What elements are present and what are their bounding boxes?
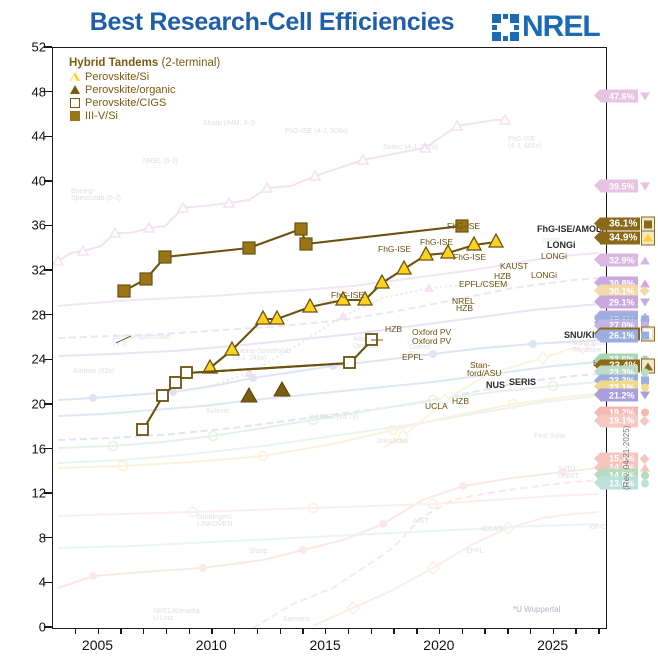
y-tick-label-20: 20 bbox=[6, 396, 46, 411]
highlight-series-layer: FhG-ISEFhG-ISEFhG-ISEFhG-ISEFhG-ISEFhG-I… bbox=[53, 48, 606, 628]
value-flag-32.9: 32.9% bbox=[600, 254, 651, 267]
x-tick-label-2025: 2025 bbox=[537, 637, 568, 653]
legend-title-bold: Hybrid Tandems bbox=[69, 57, 161, 69]
value-flag-label: 29.1% bbox=[600, 296, 638, 309]
y-tick-mark bbox=[44, 136, 52, 137]
plot-label: UCLA bbox=[425, 402, 448, 411]
y-tick-mark bbox=[44, 180, 52, 181]
value-flag-label: 26.1% bbox=[600, 329, 638, 342]
value-flag-symbol-icon bbox=[641, 230, 655, 245]
value-flag-label: 32.9% bbox=[600, 254, 638, 267]
legend-item-perovskite-organic[interactable]: Perovskite/organic bbox=[69, 83, 220, 96]
value-flag-symbol-icon bbox=[639, 180, 651, 193]
plot-label: FhG-ISE bbox=[378, 245, 411, 254]
chart-root: Best Research-Cell Efficiencies NREL Cel… bbox=[0, 0, 658, 660]
y-tick-label-12: 12 bbox=[6, 486, 46, 501]
legend-title: Hybrid Tandems (2-terminal) bbox=[69, 57, 220, 69]
plot-label: LONGi bbox=[547, 241, 576, 250]
x-tick-label-2010: 2010 bbox=[196, 637, 227, 653]
y-tick-mark bbox=[44, 537, 52, 538]
value-flag-label: 13.0% bbox=[600, 477, 638, 490]
value-flag-symbol-icon bbox=[639, 90, 651, 103]
plot-label: SERIS bbox=[509, 378, 536, 387]
value-flag-34.9: 34.9% bbox=[600, 231, 655, 244]
plot-label: Oxford PV bbox=[412, 337, 451, 346]
y-tick-mark bbox=[44, 91, 52, 92]
y-tick-label-0: 0 bbox=[6, 620, 46, 635]
y-tick-mark bbox=[44, 626, 52, 627]
value-flag-label: 21.2% bbox=[600, 389, 638, 402]
value-flag-21.2: 21.2% bbox=[600, 389, 651, 402]
y-tick-label-48: 48 bbox=[6, 84, 46, 99]
y-tick-label-36: 36 bbox=[6, 218, 46, 233]
value-flag-label: 34.9% bbox=[600, 231, 640, 244]
right-value-flags: 47.6%39.5%36.1%34.9%32.9%30.8%30.1%29.1%… bbox=[600, 47, 658, 627]
value-flag-label: 19.1% bbox=[600, 414, 638, 427]
y-tick-label-52: 52 bbox=[6, 40, 46, 55]
plot-label: FhG-ISE bbox=[331, 291, 364, 300]
value-flag-symbol-icon bbox=[639, 296, 651, 309]
triangle-filled-icon bbox=[69, 84, 80, 95]
value-flag-symbol-icon bbox=[639, 477, 651, 490]
y-tick-label-16: 16 bbox=[6, 441, 46, 456]
footnote-wuppertal: *U Wuppertal bbox=[513, 605, 560, 614]
value-flag-26.1: 26.1% bbox=[600, 329, 651, 342]
plot-label: HZB bbox=[385, 325, 402, 334]
y-tick-mark bbox=[44, 225, 52, 226]
highlight-series-svg bbox=[53, 48, 606, 628]
legend-label-2: Perovskite/CIGS bbox=[85, 97, 166, 109]
y-tick-label-40: 40 bbox=[6, 173, 46, 188]
y-tick-mark bbox=[44, 448, 52, 449]
value-flag-36.1: 36.1% bbox=[600, 218, 655, 231]
value-flag-label: 47.6% bbox=[600, 90, 638, 103]
value-flag-label: 36.1% bbox=[600, 218, 640, 231]
y-tick-label-8: 8 bbox=[6, 530, 46, 545]
nrel-wordmark: NREL bbox=[522, 10, 600, 44]
series-perovskite-cigs-markers bbox=[137, 334, 377, 435]
value-flag-symbol-icon bbox=[639, 389, 651, 402]
legend-item-perovskite-cigs[interactable]: Perovskite/CIGS bbox=[69, 96, 220, 109]
y-tick-mark bbox=[44, 269, 52, 270]
plot-label: FhG-ISE bbox=[453, 253, 486, 262]
y-tick-mark bbox=[44, 314, 52, 315]
plot-label: FhG-ISE bbox=[447, 222, 480, 231]
plot-label: FhG-ISE bbox=[420, 238, 453, 247]
value-flag-47.6: 47.6% bbox=[600, 90, 651, 103]
plot-label: HZB bbox=[452, 397, 469, 406]
series-perovskite-organic-markers bbox=[241, 382, 290, 402]
plot-label: EPFL bbox=[402, 353, 423, 362]
y-tick-label-44: 44 bbox=[6, 129, 46, 144]
revision-note: (Rev. 04-21-2025) bbox=[622, 426, 631, 490]
y-tick-mark bbox=[44, 403, 52, 404]
page-title: Best Research-Cell Efficiencies bbox=[62, 8, 482, 37]
x-tick-label-2020: 2020 bbox=[423, 637, 454, 653]
plot-label: LONGi bbox=[531, 271, 557, 280]
nrel-logo: NREL bbox=[492, 10, 600, 44]
y-tick-label-32: 32 bbox=[6, 263, 46, 278]
plot-label: NUS bbox=[486, 381, 505, 390]
legend: Hybrid Tandems (2-terminal) Perovskite/S… bbox=[69, 57, 220, 122]
legend-label-3: III-V/Si bbox=[85, 110, 118, 122]
y-tick-label-4: 4 bbox=[6, 575, 46, 590]
legend-title-rest: (2-terminal) bbox=[161, 57, 220, 69]
plot-label: ford/ASU bbox=[467, 369, 502, 378]
value-flag-label: 39.5% bbox=[600, 180, 638, 193]
y-tick-mark bbox=[44, 46, 52, 47]
legend-label-0: Perovskite/Si bbox=[85, 71, 149, 83]
plot-area: Boeing-Spectrolab (5-J) NREL (6-J) Sharp… bbox=[52, 47, 607, 629]
y-tick-mark bbox=[44, 359, 52, 360]
y-tick-label-24: 24 bbox=[6, 352, 46, 367]
legend-item-perovskite-si[interactable]: Perovskite/Si bbox=[69, 70, 220, 83]
series-iii-v-si-line bbox=[124, 226, 462, 291]
value-flag-symbol-icon bbox=[639, 329, 651, 342]
square-open-icon bbox=[69, 97, 80, 108]
legend-label-1: Perovskite/organic bbox=[85, 84, 176, 96]
x-tick-label-2015: 2015 bbox=[310, 637, 341, 653]
x-tick-label-2005: 2005 bbox=[82, 637, 113, 653]
y-tick-mark bbox=[44, 582, 52, 583]
plot-label: LONGi bbox=[541, 252, 567, 261]
plot-label: EPFL/CSEM bbox=[459, 280, 507, 289]
triangle-open-icon bbox=[69, 71, 80, 82]
value-flag-39.5: 39.5% bbox=[600, 180, 651, 193]
value-flag-symbol-icon bbox=[639, 414, 651, 427]
square-filled-icon bbox=[69, 110, 80, 121]
plot-label: KAUST bbox=[500, 262, 528, 271]
legend-item-iii-v-si[interactable]: III-V/Si bbox=[69, 109, 220, 122]
value-flag-symbol-icon bbox=[639, 254, 651, 267]
y-tick-label-28: 28 bbox=[6, 307, 46, 322]
value-flag-29.1: 29.1% bbox=[600, 296, 651, 309]
y-tick-mark bbox=[44, 492, 52, 493]
plot-label: NREL bbox=[452, 297, 475, 306]
plot-label: HZB bbox=[494, 272, 511, 281]
nrel-pinwheel-icon bbox=[492, 14, 519, 41]
